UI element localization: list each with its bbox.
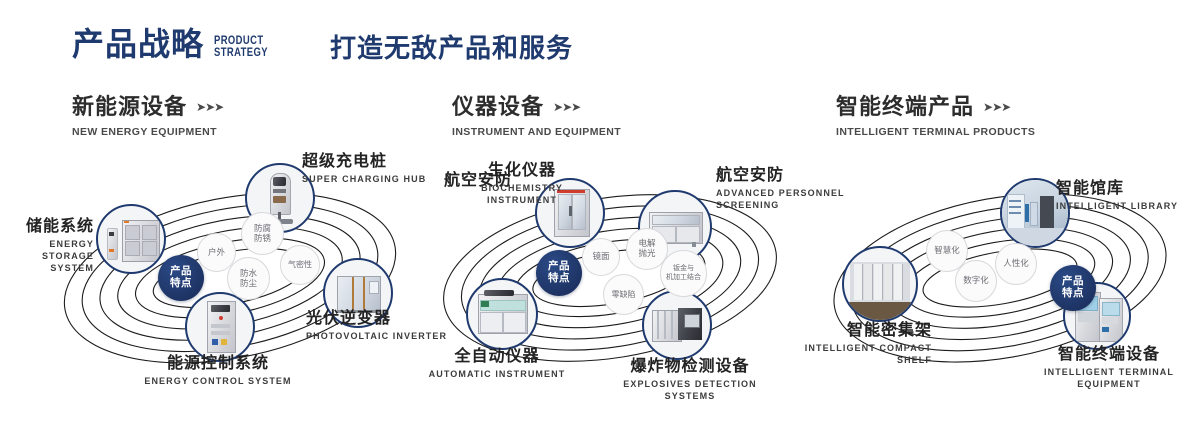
section-title-en: INSTRUMENT AND EQUIPMENT [452,126,621,138]
label-energy-control-system: 能源控制系统 ENERGY CONTROL SYSTEM [88,355,348,388]
core-product-features: 产品 特点 [1050,265,1096,311]
feature-bubble: 数字化 [955,260,997,302]
section-title-en: NEW ENERGY EQUIPMENT [72,126,223,138]
label-energy-storage: 储能系统 ENERGY STORAGE SYSTEM [0,218,94,274]
section-title-new-energy: 新能源设备 ➤➤➤ NEW ENERGY EQUIPMENT [72,96,223,138]
node-explosives-detection[interactable] [642,290,712,360]
feature-bubble: 零缺陷 [603,274,644,315]
node-intelligent-compact-shelf[interactable] [842,246,918,322]
control-cabinet-icon [187,294,253,360]
explosive-detector-icon [644,292,710,358]
cluster-instrument: 航空安防 生化仪器 BIOCHEMISTRY INSTRUMENT [420,150,800,400]
cluster-intelligent-terminal: 智能馆库 INTELLIGENT LIBRARY 智能密集架 INTELLIGE… [810,150,1200,400]
label-intelligent-library: 智能馆库 INTELLIGENT LIBRARY [1056,180,1200,213]
page-title-en-line2: STRATEGY [214,48,268,60]
feature-bubble: 气密性 [280,245,320,285]
automatic-analyzer-icon [468,280,536,348]
page-subtitle: 打造无敌产品和服务 [330,35,573,61]
label-biochemistry-instrument: 生化仪器 BIOCHEMISTRY INSTRUMENT [462,162,582,207]
page-title-block: 产品战略 PRODUCT STRATEGY [72,28,280,60]
feature-bubble: 防水 防尘 [227,257,270,300]
page-title-cn: 产品战略 [72,28,204,60]
core-product-features: 产品 特点 [536,250,582,296]
chevrons-icon: ➤➤➤ [983,101,1010,113]
cluster-new-energy: 储能系统 ENERGY STORAGE SYSTEM 超级充电桩 SUPER C… [40,150,420,400]
node-energy-control-system[interactable] [185,292,255,362]
product-strategy-infographic: 产品战略 PRODUCT STRATEGY 打造无敌产品和服务 新能源设备 ➤➤… [0,0,1200,422]
compact-shelf-icon [844,248,916,320]
label-intelligent-compact-shelf: 智能密集架 INTELLIGENT COMPACT SHELF [790,322,932,367]
label-automatic-instrument: 全自动仪器 AUTOMATIC INSTRUMENT [412,348,582,381]
label-intelligent-terminal-equipment: 智能终端设备 INTELLIGENT TERMINAL EQUIPMENT [1018,346,1200,391]
section-title-intelligent-terminal: 智能终端产品 ➤➤➤ INTELLIGENT TERMINAL PRODUCTS [836,96,1035,138]
label-explosives-detection: 爆炸物检测设备 EXPLOSIVES DETECTION SYSTEMS [600,358,780,403]
page-title-en-line1: PRODUCT [214,36,268,48]
chevrons-icon: ➤➤➤ [196,101,223,113]
section-title-cn: 仪器设备 [452,96,544,118]
feature-bubble: 镜面 [582,238,620,276]
section-title-cn: 智能终端产品 [836,96,974,118]
node-energy-storage[interactable] [96,204,166,274]
section-title-instrument: 仪器设备 ➤➤➤ INSTRUMENT AND EQUIPMENT [452,96,621,138]
section-title-cn: 新能源设备 [72,96,187,118]
feature-bubble: 人性化 [995,243,1037,285]
page-title-en: PRODUCT STRATEGY [214,36,268,59]
chevrons-icon: ➤➤➤ [553,101,580,113]
feature-bubble: 防腐 防锈 [241,212,284,255]
node-automatic-instrument[interactable] [466,278,538,350]
energy-storage-cabinet-icon [98,206,164,272]
section-title-en: INTELLIGENT TERMINAL PRODUCTS [836,126,1035,138]
feature-bubble: 钣金与 机加工结合 [660,250,707,297]
core-product-features: 产品 特点 [158,255,204,301]
